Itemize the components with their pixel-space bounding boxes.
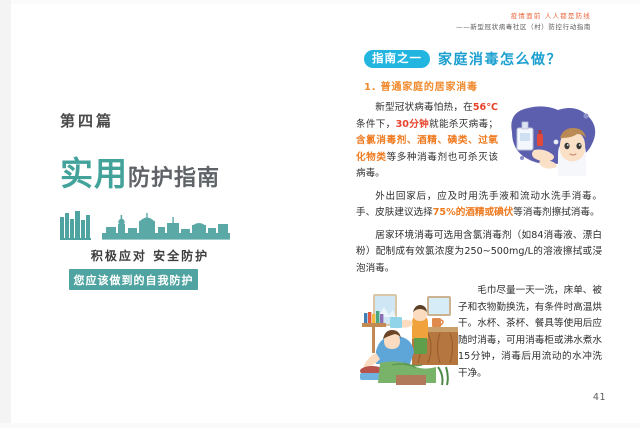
ribbon-label: 您应该做到的自我防护: [74, 272, 194, 288]
text-run-normal: 等消毒剂擦拭消毒。: [513, 207, 599, 218]
chapter-number: 第四篇: [60, 114, 290, 129]
text-run-normal: 毛巾尽量一天一洗，床单、被子和衣物勤换洗，有条件时高温烘干。水杯、茶杯、餐具等使…: [458, 285, 602, 379]
right-page: 疫情面前 人人都是防线 ——新型冠状病毒社区（村）防控行动指南 指南之一 家庭消…: [320, 4, 629, 423]
section-subheading: 1. 普通家庭的居家消毒: [364, 78, 478, 93]
text-run-normal: 新型冠状病毒怕热，在: [375, 102, 473, 113]
guide-title: 家庭消毒怎么做？: [438, 49, 562, 69]
text-run-normal: 就能杀灭病毒；: [429, 119, 498, 130]
page-number: 41: [593, 392, 606, 403]
text-run-red: 56℃: [473, 102, 498, 113]
guide-heading: 指南之一 家庭消毒怎么做？: [364, 49, 562, 69]
page-edge-bottom: [0, 423, 640, 428]
handwashing-illustration: [498, 102, 602, 176]
running-head: 疫情面前 人人都是防线 ——新型冠状病毒社区（村）防控行动指南: [456, 12, 591, 32]
text-run-orange: 75%的酒精或碘伏: [433, 207, 514, 218]
chapter-heading-block: 第四篇 实用防护指南: [60, 114, 290, 190]
left-page-slogan: 积极应对 安全防护: [60, 247, 240, 264]
text-run-normal: 居家环境消毒可选用含氯消毒剂（如84消毒液、漂白粉）配制成有效氯浓度为250~5…: [356, 230, 602, 274]
chapter-title-highlight: 实用: [60, 154, 128, 193]
book-spread: 第四篇 实用防护指南: [0, 0, 640, 428]
paragraph-2: 外出回家后，应及时用洗手液和流动水洗手消毒。手、皮肤建议选择75%的酒精或碘伏等…: [356, 189, 602, 222]
text-run-normal: 条件下，: [356, 119, 396, 130]
page-edge-left: [0, 0, 11, 428]
chapter-title-rest: 防护指南: [128, 166, 220, 191]
left-page: 第四篇 实用防护指南: [11, 4, 320, 423]
body-column: 新型冠状病毒怕热，在56℃条件下，30分钟就能杀灭病毒；含氯消毒剂、酒精、碘类、…: [356, 100, 602, 389]
running-head-line2: ——新型冠状病毒社区（村）防控行动指南: [456, 22, 591, 32]
paragraph-3: 居家环境消毒可选用含氯消毒剂（如84消毒液、漂白粉）配制成有效氯浓度为250~5…: [356, 228, 602, 278]
guide-badge: 指南之一: [364, 50, 430, 68]
self-protection-ribbon: 您应该做到的自我防护: [69, 269, 198, 290]
chapter-title: 实用防护指南: [60, 157, 290, 190]
city-skyline-icon: [60, 211, 235, 241]
text-run-red: 30分钟: [396, 119, 429, 130]
home-cleaning-illustration: [356, 287, 458, 387]
running-head-line1: 疫情面前 人人都是防线: [456, 12, 591, 22]
